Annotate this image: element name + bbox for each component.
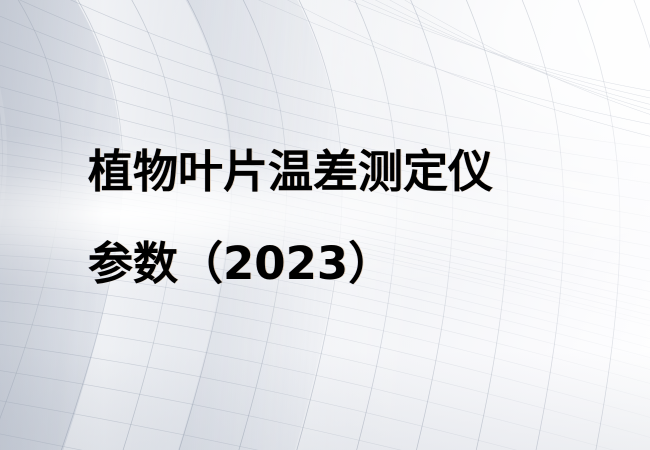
banner-title-line-1: 植物叶片温差测定仪	[88, 126, 493, 218]
title-banner: 植物叶片温差测定仪 参数（2023）	[0, 0, 650, 450]
banner-title: 植物叶片温差测定仪 参数（2023）	[88, 126, 493, 310]
banner-title-line-2: 参数（2023）	[88, 218, 493, 310]
